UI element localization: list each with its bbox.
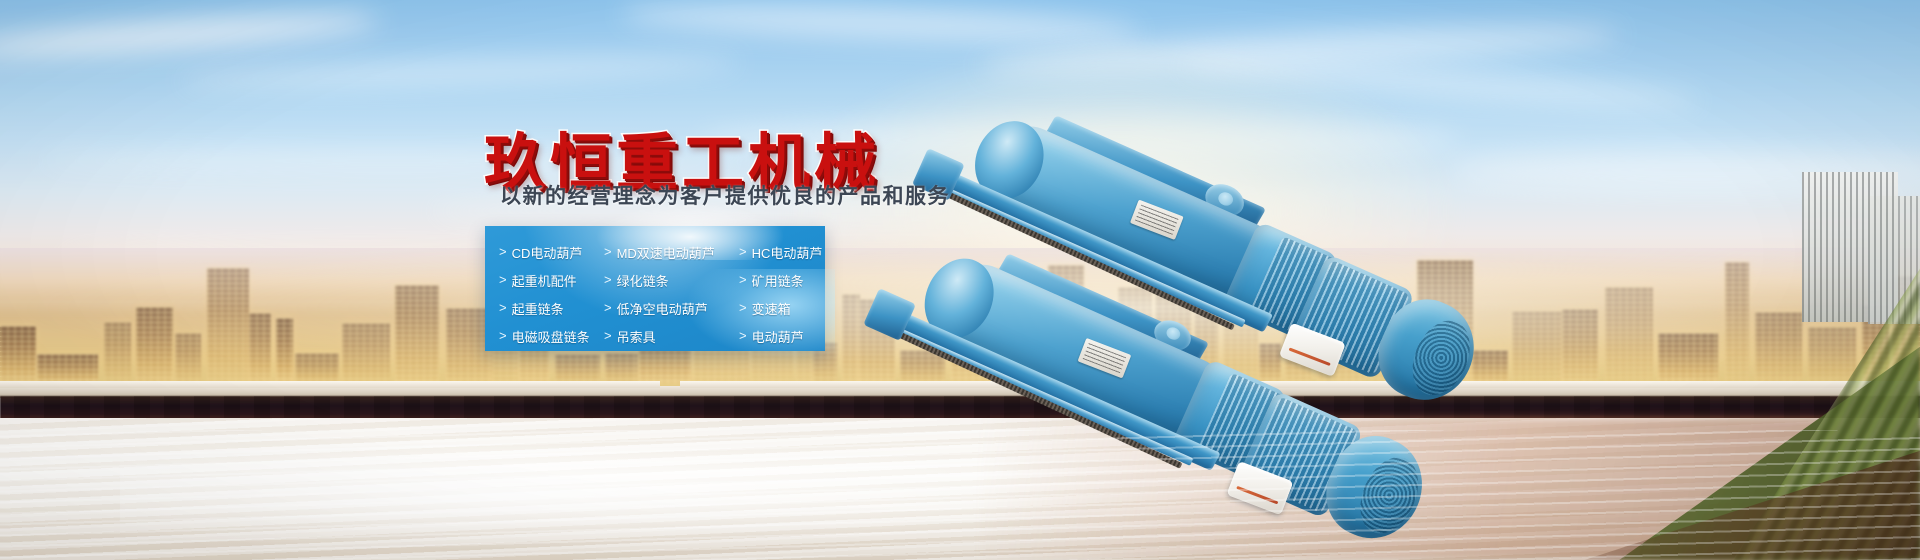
- product-link[interactable]: >变速箱: [739, 294, 839, 322]
- product-link[interactable]: >电动葫芦: [739, 322, 839, 350]
- product-link-label: 低净空电动葫芦: [617, 299, 708, 318]
- product-link[interactable]: >矿用链条: [739, 266, 839, 294]
- chevron-right-icon: >: [739, 245, 747, 258]
- product-link-label: 吊索具: [617, 327, 656, 346]
- product-link[interactable]: >MD双速电动葫芦: [604, 238, 739, 266]
- electric-hoist-product-group: [860, 40, 1600, 440]
- product-link[interactable]: >电磁吸盘链条: [499, 322, 604, 350]
- chevron-right-icon: >: [739, 329, 747, 342]
- cloud-wisp: [180, 52, 740, 92]
- product-link[interactable]: >吊索具: [604, 322, 739, 350]
- chevron-right-icon: >: [604, 273, 612, 286]
- chevron-right-icon: >: [499, 273, 507, 286]
- cloud-wisp: [0, 7, 380, 62]
- product-link[interactable]: >起重链条: [499, 294, 604, 322]
- chevron-right-icon: >: [604, 301, 612, 314]
- chevron-right-icon: >: [499, 245, 507, 258]
- product-link[interactable]: >起重机配件: [499, 266, 604, 294]
- chevron-right-icon: >: [739, 273, 747, 286]
- chevron-right-icon: >: [604, 329, 612, 342]
- product-link-label: 电磁吸盘链条: [512, 327, 590, 346]
- product-link-label: MD双速电动葫芦: [617, 243, 715, 262]
- product-link-label: 电动葫芦: [752, 327, 804, 346]
- chevron-right-icon: >: [604, 245, 612, 258]
- product-link-label: 起重链条: [512, 299, 564, 318]
- hero-banner: 玖恒重工机械 以新的经营理念为客户提供优良的产品和服务 >CD电动葫芦>MD双速…: [0, 0, 1920, 560]
- product-link-label: 矿用链条: [752, 271, 804, 290]
- product-links-grid: >CD电动葫芦>MD双速电动葫芦>HC电动葫芦>起重机配件>绿化链条>矿用链条>…: [485, 238, 825, 350]
- chevron-right-icon: >: [739, 301, 747, 314]
- product-link[interactable]: >CD电动葫芦: [499, 238, 604, 266]
- product-link-label: HC电动葫芦: [752, 243, 823, 262]
- product-link-label: 变速箱: [752, 299, 791, 318]
- chevron-right-icon: >: [499, 301, 507, 314]
- product-link-label: 起重机配件: [512, 271, 577, 290]
- product-link-label: CD电动葫芦: [512, 243, 583, 262]
- chevron-right-icon: >: [499, 329, 507, 342]
- page-subtitle: 以新的经营理念为客户提供优良的产品和服务: [500, 180, 950, 210]
- product-links-panel: >CD电动葫芦>MD双速电动葫芦>HC电动葫芦>起重机配件>绿化链条>矿用链条>…: [485, 226, 825, 351]
- product-link[interactable]: >低净空电动葫芦: [604, 294, 739, 322]
- product-link[interactable]: >HC电动葫芦: [739, 238, 839, 266]
- product-link-label: 绿化链条: [617, 271, 669, 290]
- product-link[interactable]: >绿化链条: [604, 266, 739, 294]
